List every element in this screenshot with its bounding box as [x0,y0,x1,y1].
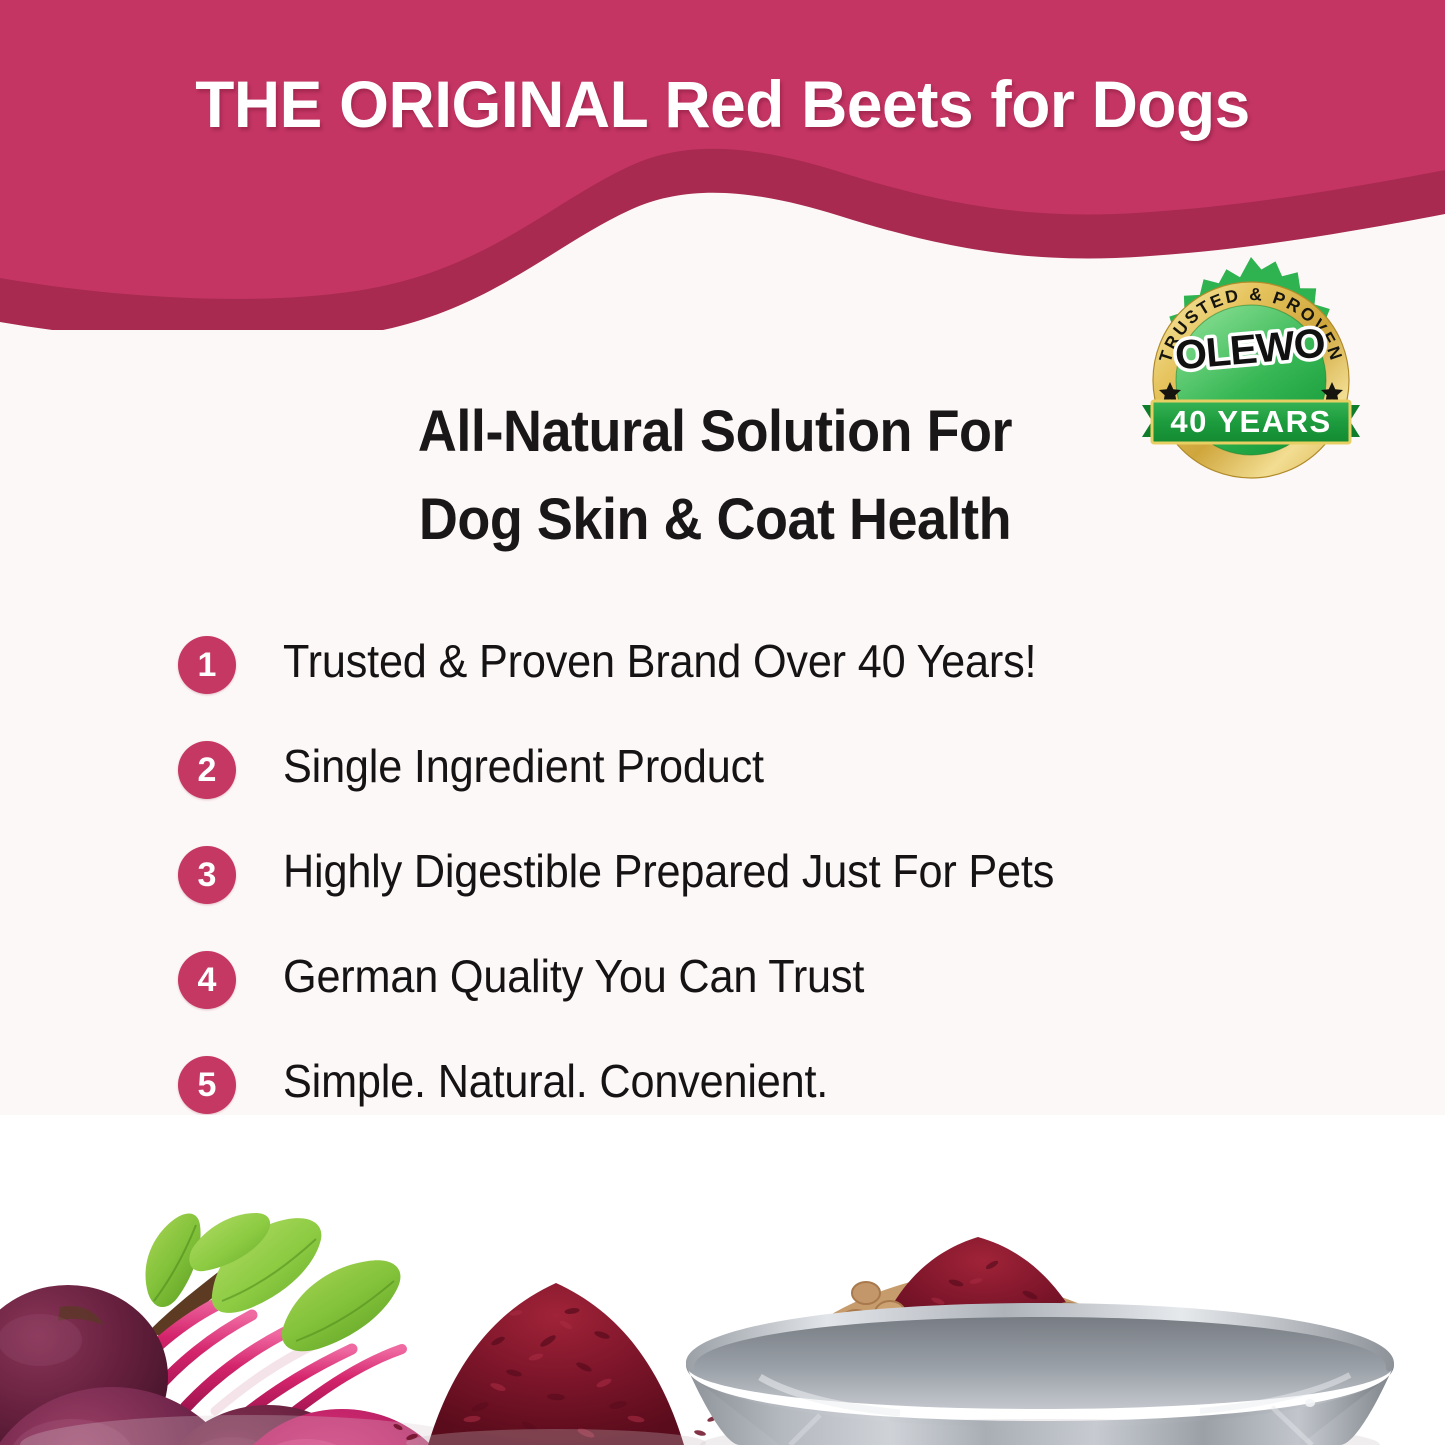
subheadline-line-2: Dog Skin & Coat Health [199,476,1231,564]
list-item: 4 German Quality You Can Trust [178,947,1358,1052]
benefit-number-badge: 5 [178,1056,236,1114]
list-item: 2 Single Ingredient Product [178,737,1358,842]
benefit-text: Trusted & Proven Brand Over 40 Years! [283,632,1294,691]
benefit-text: German Quality You Can Trust [283,947,1294,1006]
benefit-number-badge: 2 [178,741,236,799]
benefit-text: Single Ingredient Product [283,737,1294,796]
promo-image-canvas: THE ORIGINAL Red Beets for Dogs [0,0,1445,1445]
page-title: THE ORIGINAL Red Beets for Dogs [22,70,1424,139]
product-photo-illustration [0,1115,1445,1445]
benefit-number-badge: 1 [178,636,236,694]
benefit-text: Simple. Natural. Convenient. [283,1052,1294,1111]
benefit-text: Highly Digestible Prepared Just For Pets [283,842,1294,901]
product-photo-strip: fresh-red-beets-with-green-leaves dried-… [0,1115,1445,1445]
benefit-number-badge: 4 [178,951,236,1009]
list-item: 3 Highly Digestible Prepared Just For Pe… [178,842,1358,947]
list-item: 1 Trusted & Proven Brand Over 40 Years! [178,632,1358,737]
subheadline-line-1: All-Natural Solution For [199,388,1231,476]
benefits-list: 1 Trusted & Proven Brand Over 40 Years! … [178,632,1358,1157]
benefit-number-badge: 3 [178,846,236,904]
subheadline: All-Natural Solution For Dog Skin & Coat… [199,388,1231,564]
